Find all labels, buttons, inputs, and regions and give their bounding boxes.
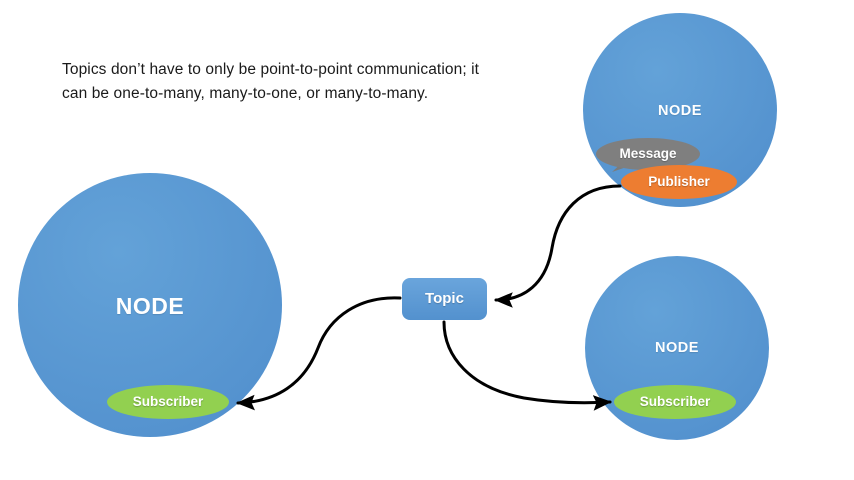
publisher-ellipse-shape [621,165,737,199]
arrow-topic-to-subscriber-bottom-right [444,322,610,403]
caption-text: Topics don’t have to only be point-to-po… [62,58,492,106]
diagram-canvas: Topics don’t have to only be point-to-po… [0,0,854,480]
subscriber-ellipse-shape-left [107,385,229,419]
subscriber-ellipse-shape-bottom-right [614,385,736,419]
arrow-publisher-to-topic [496,186,620,300]
topic-box-shape[interactable] [402,278,487,320]
